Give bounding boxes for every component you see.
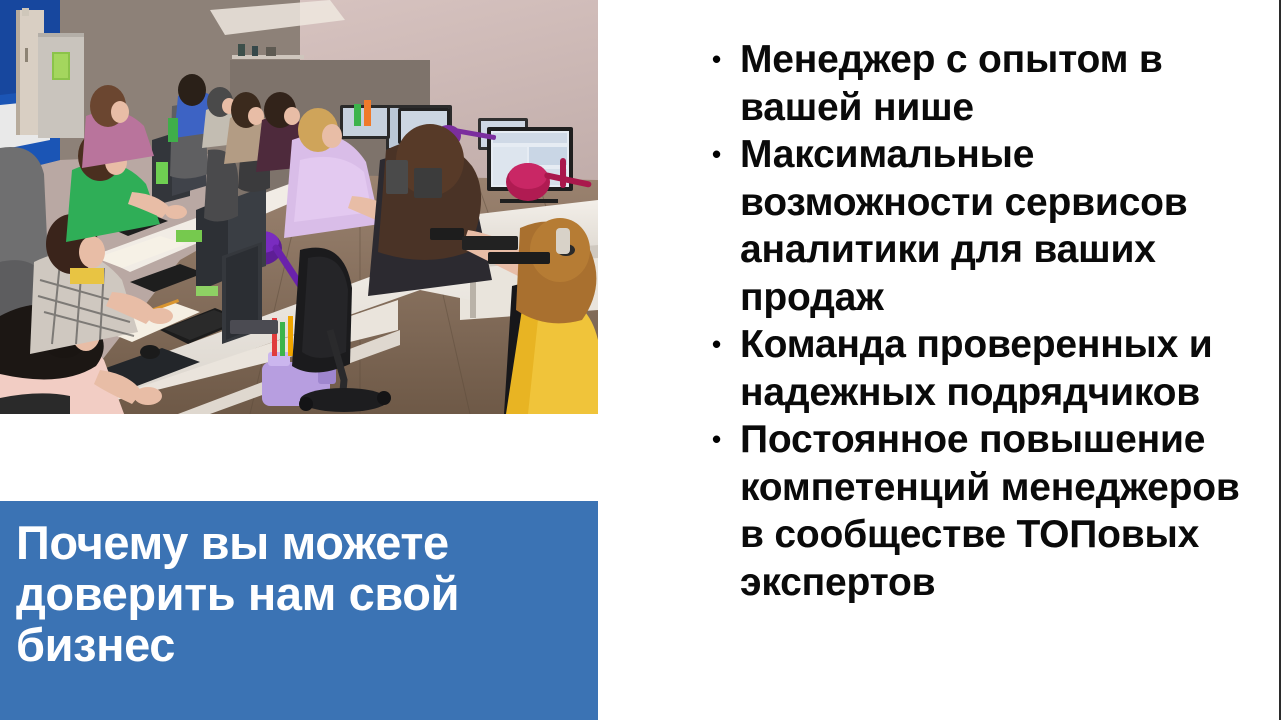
benefits-list: Менеджер с опытом в вашей нише Максималь… [700, 36, 1260, 606]
list-item-label: Команда проверенных и надежных подрядчик… [740, 323, 1213, 414]
list-item: Команда проверенных и надежных подрядчик… [740, 321, 1260, 416]
page-title: Почему вы можете доверить нам свой бизне… [16, 517, 584, 670]
list-item-label: Постоянное повышение компетенций менедже… [740, 418, 1240, 604]
office-photo-illustration [0, 0, 598, 414]
list-item: Максимальные возможности сервисов аналит… [740, 131, 1260, 321]
list-item: Менеджер с опытом в вашей нише [740, 36, 1260, 131]
list-item-label: Менеджер с опытом в вашей нише [740, 38, 1163, 129]
presentation-slide: Почему вы можете доверить нам свой бизне… [0, 0, 1281, 720]
slide-title-band: Почему вы можете доверить нам свой бизне… [0, 501, 598, 720]
list-item-label: Максимальные возможности сервисов аналит… [740, 133, 1188, 319]
list-item: Постоянное повышение компетенций менедже… [740, 416, 1260, 606]
office-workspace-photo [0, 0, 598, 414]
